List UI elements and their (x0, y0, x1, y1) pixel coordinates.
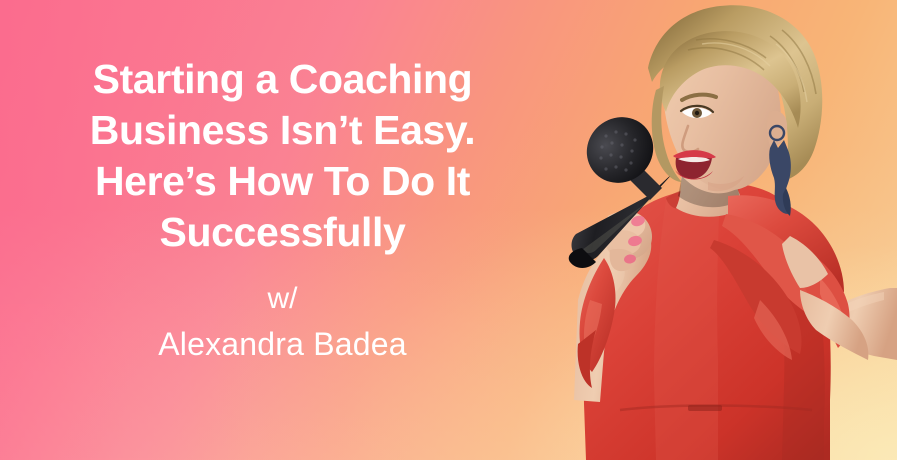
head (648, 5, 822, 191)
speaker-photo (470, 0, 897, 460)
webinar-promo-banner: Starting a Coaching Business Isn’t Easy.… (0, 0, 897, 460)
speaker-illustration (470, 0, 897, 460)
